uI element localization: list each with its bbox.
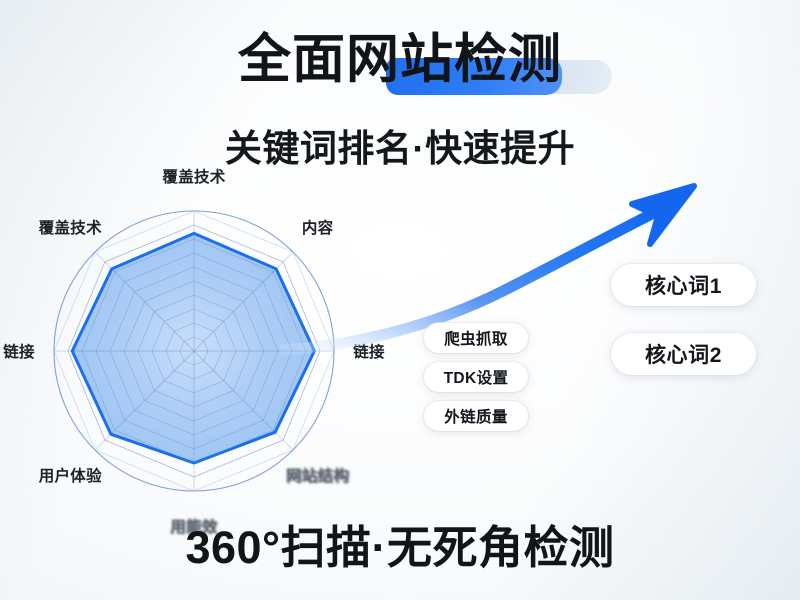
radar-data-polygon	[72, 233, 314, 463]
tag-pill-crawl[interactable]: 爬虫抓取	[424, 323, 528, 353]
radar-axis-label-bottom-right: 网站结构	[286, 464, 349, 486]
tag-pill-link-label: 外链质量	[444, 405, 508, 427]
title-block: 全面网站检测	[0, 32, 800, 88]
keyword-pill-2[interactable]: 核心词2	[611, 333, 756, 375]
page-title: 全面网站检测	[238, 32, 562, 88]
tag-pill-crawl-label: 爬虫抓取	[444, 327, 508, 349]
page-title-text: 全面网站检测	[238, 30, 562, 89]
radar-axis-label-top-right: 内容	[302, 216, 334, 238]
radar-axis-label-bottom-left: 用户体验	[39, 464, 102, 486]
radar-axis-label-right: 链接	[353, 340, 385, 362]
keyword-pill-2-label: 核心词2	[645, 339, 722, 369]
radar-axis-label-left: 链接	[3, 340, 35, 362]
keyword-pill-1-label: 核心词1	[645, 270, 722, 300]
radar-chart: 覆盖技术内容链接网站结构用能效用户体验链接覆盖技术	[28, 186, 428, 516]
page-subtitle: 关键词排名·快速提升	[0, 118, 800, 172]
tag-pill-tdk-label: TDK设置	[444, 366, 509, 388]
page-footer-title: 360°扫描·无死角检测	[0, 511, 800, 576]
keyword-pill-1[interactable]: 核心词1	[611, 264, 756, 306]
radar-axis-label-top-left: 覆盖技术	[39, 216, 102, 238]
poster-canvas: 全面网站检测 关键词排名·快速提升 覆盖技术内容链接网站结构用能效用户体验链接覆…	[0, 0, 800, 600]
tag-pill-tdk[interactable]: TDK设置	[424, 362, 528, 392]
tag-pill-link[interactable]: 外链质量	[424, 401, 528, 431]
